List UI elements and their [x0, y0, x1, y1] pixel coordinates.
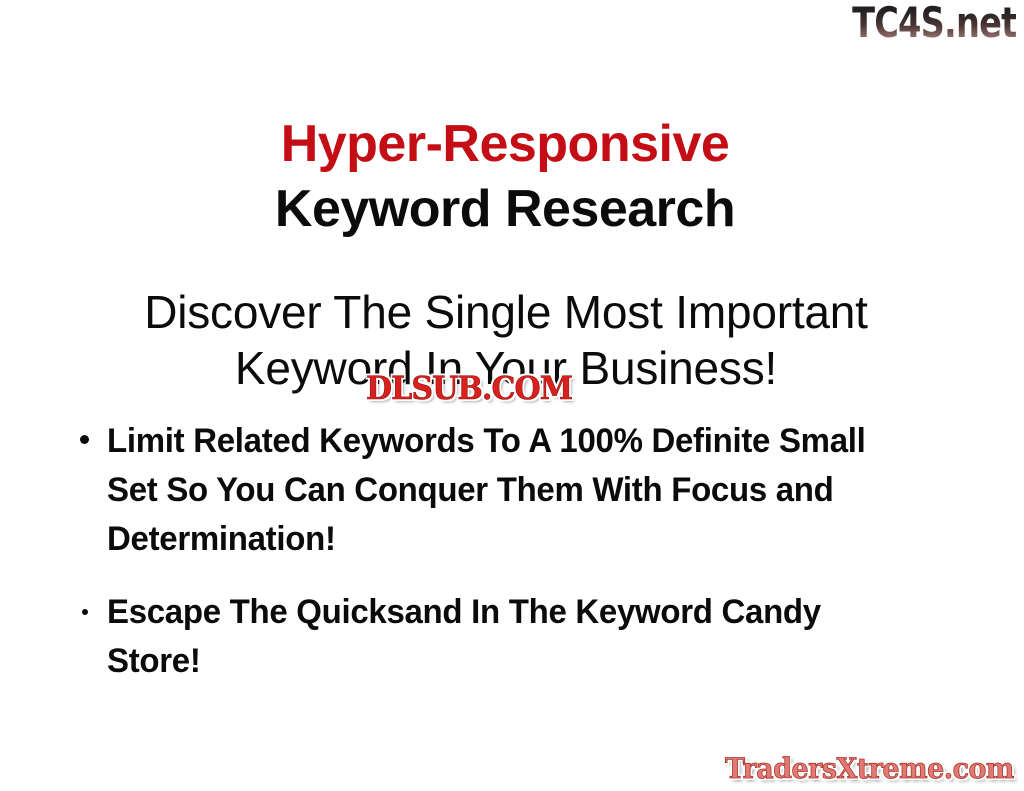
list-item-label: Escape The Quicksand In The Keyword Cand… — [107, 588, 907, 686]
list-item-label: Limit Related Keywords To A 100% Definit… — [107, 417, 907, 564]
bullet-dot-icon — [82, 609, 88, 615]
bullet-list: Limit Related Keywords To A 100% Definit… — [72, 417, 932, 710]
subtitle-line-1: Discover The Single Most Important — [0, 284, 1012, 340]
list-item: Escape The Quicksand In The Keyword Cand… — [72, 588, 932, 686]
page-title: Hyper-Responsive Keyword Research — [0, 112, 1024, 242]
brand-watermark-tc4s: TC4S.net — [852, 1, 1016, 45]
list-item: Limit Related Keywords To A 100% Definit… — [72, 417, 932, 564]
footer-watermark-tradersxtreme: TradersXtreme.com — [725, 753, 1014, 785]
overlay-watermark-dlsub: DLSUB.COM — [366, 371, 572, 405]
bullet-dot-icon — [80, 435, 89, 444]
title-line-secondary: Keyword Research — [0, 177, 1010, 242]
presentation-slide: TC4S.net Hyper-Responsive Keyword Resear… — [0, 0, 1024, 791]
title-line-primary: Hyper-Responsive — [0, 112, 1010, 177]
